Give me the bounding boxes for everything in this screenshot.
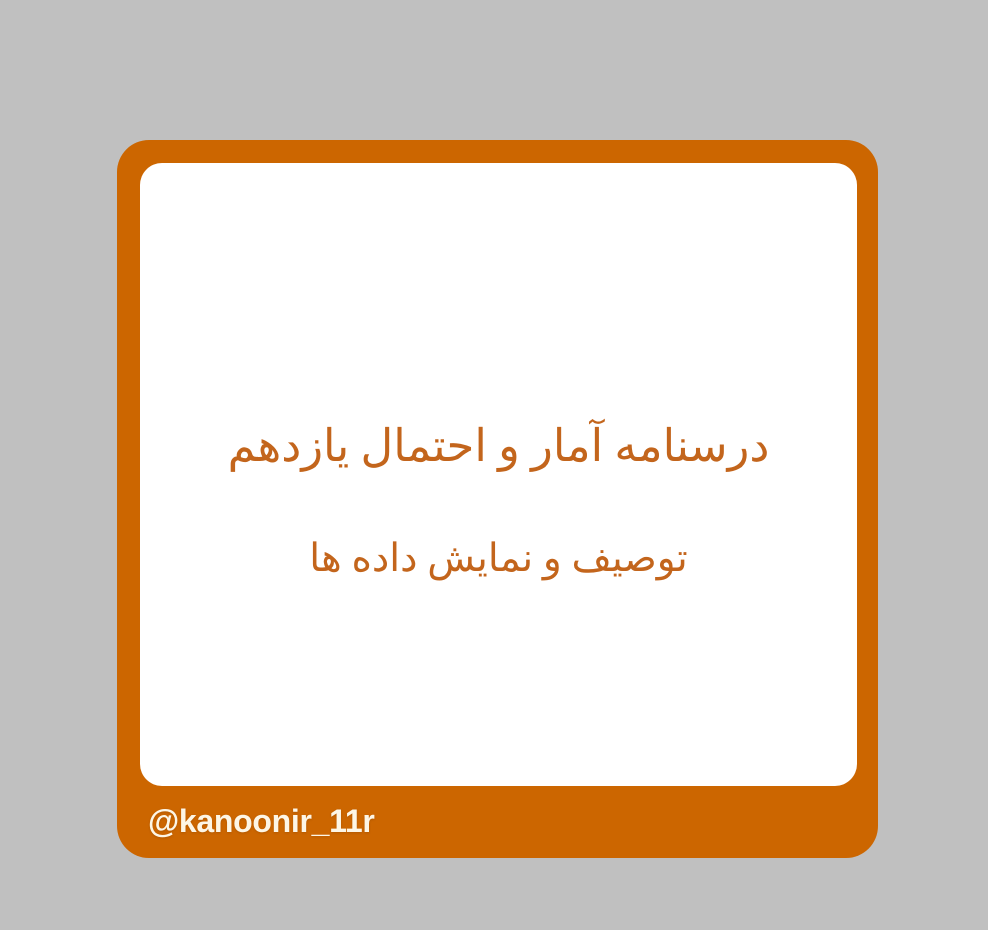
title-block: درسنامه آمار و احتمال یازدهم توصیف و نما…: [140, 418, 857, 584]
slide-canvas: درسنامه آمار و احتمال یازدهم توصیف و نما…: [0, 0, 988, 930]
post-card-frame: درسنامه آمار و احتمال یازدهم توصیف و نما…: [117, 140, 878, 858]
lesson-subtitle: توصیف و نمایش داده ها: [140, 534, 857, 584]
lesson-title: درسنامه آمار و احتمال یازدهم: [140, 418, 857, 476]
account-handle: @kanoonir_11r: [148, 803, 375, 840]
content-panel: درسنامه آمار و احتمال یازدهم توصیف و نما…: [140, 163, 857, 786]
